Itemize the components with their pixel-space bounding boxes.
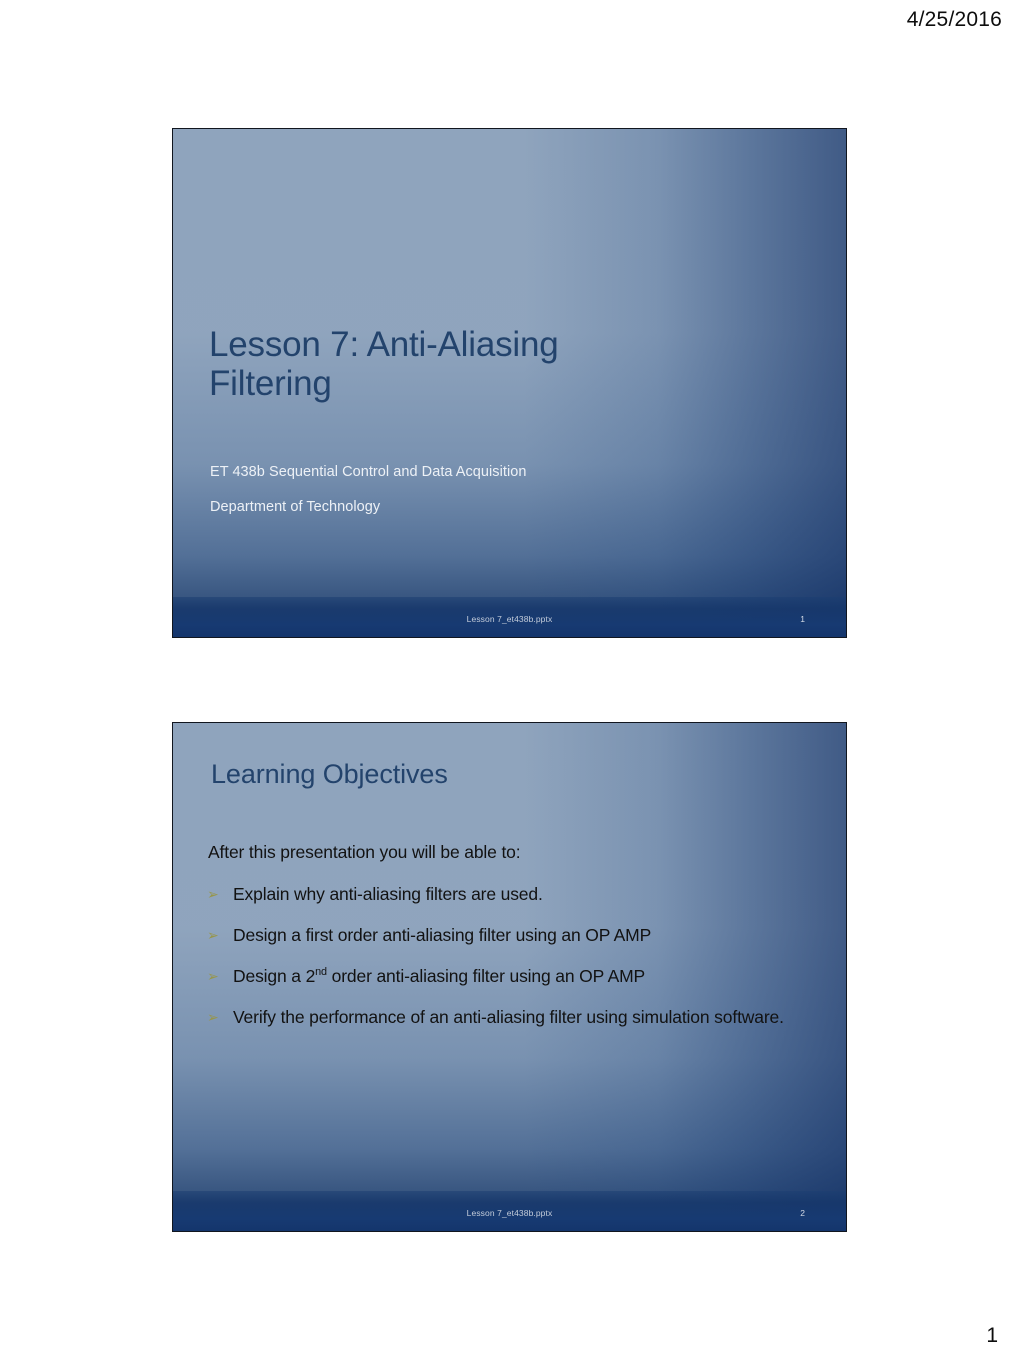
list-item: ➢ Verify the performance of an anti-alia… — [206, 1006, 786, 1029]
list-item-text: Design a first order anti-aliasing filte… — [233, 925, 651, 945]
list-item-superscript: nd — [315, 966, 327, 978]
slide-1-footer-number: 1 — [800, 614, 805, 624]
arrow-bullet-icon: ➢ — [207, 966, 219, 987]
slide-2-content: Learning Objectives After this presentat… — [173, 723, 846, 1231]
slide-2-title: Learning Objectives — [211, 759, 448, 790]
arrow-bullet-icon: ➢ — [207, 925, 219, 946]
slide-thumbnail-1[interactable]: Lesson 7: Anti-Aliasing Filtering ET 438… — [172, 128, 847, 638]
list-item-text: Verify the performance of an anti-aliasi… — [233, 1007, 784, 1027]
list-item-text-after: order anti-aliasing filter using an OP A… — [327, 966, 645, 986]
list-item: ➢ Explain why anti-aliasing filters are … — [206, 883, 786, 906]
arrow-bullet-icon: ➢ — [207, 884, 219, 905]
slide-thumbnail-2[interactable]: Learning Objectives After this presentat… — [172, 722, 847, 1232]
slide-2-footer-filename: Lesson 7_et438b.pptx — [173, 1208, 846, 1218]
slide-1-footer-filename: Lesson 7_et438b.pptx — [173, 614, 846, 624]
arrow-bullet-icon: ➢ — [207, 1007, 219, 1028]
list-item: ➢ Design a first order anti-aliasing fil… — [206, 924, 786, 947]
slide-1-subtitle-course: ET 438b Sequential Control and Data Acqu… — [210, 464, 526, 480]
handout-date: 4/25/2016 — [907, 8, 1002, 32]
handout-page-number: 1 — [986, 1324, 998, 1348]
slide-1-title: Lesson 7: Anti-Aliasing Filtering — [209, 325, 639, 403]
list-item-text-before: Design a 2 — [233, 966, 315, 986]
slide-1-subtitle-department: Department of Technology — [210, 499, 380, 515]
slide-2-intro-text: After this presentation you will be able… — [208, 842, 520, 863]
slide-2-footer-number: 2 — [800, 1208, 805, 1218]
list-item: ➢ Design a 2nd order anti-aliasing filte… — [206, 965, 786, 988]
learning-objectives-list: ➢ Explain why anti-aliasing filters are … — [206, 883, 786, 1047]
slide-1-content: Lesson 7: Anti-Aliasing Filtering ET 438… — [173, 129, 846, 637]
list-item-text: Explain why anti-aliasing filters are us… — [233, 884, 543, 904]
